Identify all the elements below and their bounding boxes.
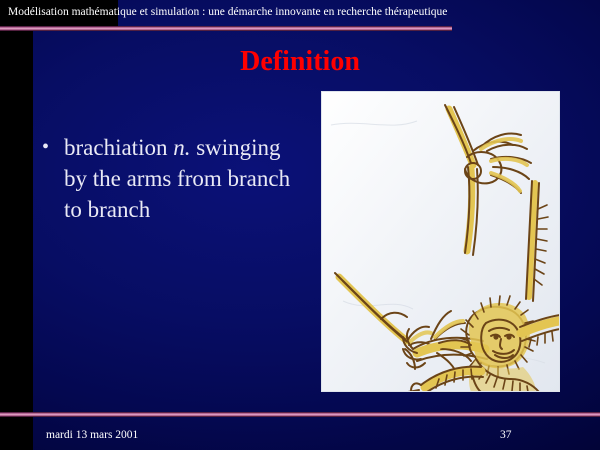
slide-header-title: Modélisation mathématique et simulation …	[8, 4, 568, 20]
header-divider-rule	[0, 26, 452, 31]
footer-date: mardi 13 mars 2001	[46, 428, 138, 443]
footer-divider-rule	[0, 412, 600, 417]
list-item: • brachiation n. swinging by the arms fr…	[42, 132, 292, 225]
bullet-text: brachiation n. swinging by the arms from…	[64, 132, 292, 225]
footer-page-number: 37	[500, 428, 560, 443]
illustration-image	[321, 91, 560, 392]
bullet-marker-icon: •	[42, 132, 64, 163]
definition-term: brachiation	[64, 135, 173, 160]
definition-part-of-speech: n.	[173, 135, 190, 160]
left-black-band	[0, 0, 33, 450]
body-content: • brachiation n. swinging by the arms fr…	[42, 132, 292, 225]
page-title: Definition	[33, 45, 567, 79]
brachiating-ape-sketch-icon	[321, 91, 560, 392]
slide: Modélisation mathématique et simulation …	[0, 0, 600, 450]
